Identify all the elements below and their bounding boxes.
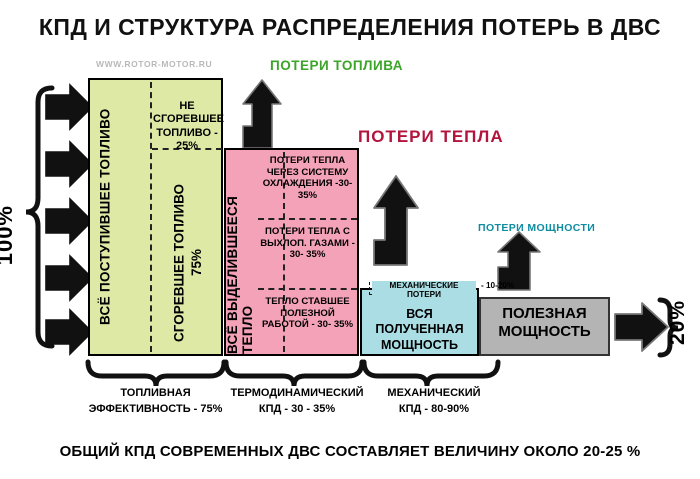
brace-caption-mechanical-line2: КПД - 80-90% bbox=[364, 402, 504, 418]
brace-caption-fuel-efficiency: ТОПЛИВНАЯ ЭФФЕКТИВНОСТЬ - 75% bbox=[78, 386, 233, 418]
total-power-label: ВСЯ ПОЛУЧЕННАЯ МОЩНОСТЬ bbox=[362, 307, 477, 353]
brace-caption-mechanical-line1: МЕХАНИЧЕСКИЙ bbox=[364, 386, 504, 402]
mechanical-losses-label: МЕХАНИЧЕСКИЕ ПОТЕРИ bbox=[372, 281, 476, 299]
useful-power-label: ПОЛЕЗНАЯ МОЩНОСТЬ bbox=[481, 305, 608, 342]
fuel-bar-vertical-divider bbox=[150, 82, 152, 352]
output-percent-label: 20% bbox=[666, 300, 700, 345]
bottom-brace-icon bbox=[88, 362, 498, 386]
heat-segment-divider-1 bbox=[258, 218, 357, 220]
footer-summary: ОБЩИЙ КПД СОВРЕМЕННЫХ ДВС СОСТАВЛЯЕТ ВЕЛ… bbox=[0, 443, 700, 460]
fuel-loss-arrow-icon bbox=[243, 80, 281, 148]
brace-caption-fuel-efficiency-line2: ЭФФЕКТИВНОСТЬ - 75% bbox=[78, 402, 233, 418]
input-percent-text: 100% bbox=[0, 205, 17, 265]
heat-segment-divider-2 bbox=[258, 288, 357, 290]
input-percent-label: 100% bbox=[0, 205, 52, 265]
output-percent-text: 20% bbox=[666, 300, 689, 345]
mechanical-losses-value: - 10-20% bbox=[481, 281, 514, 290]
heat-loss-arrow-icon bbox=[374, 176, 418, 265]
heat-bar-side-label: ВСЁ ВЫДЕЛИВШЕЕСЯ ТЕПЛО bbox=[226, 150, 254, 354]
brace-caption-thermodynamic-line1: ТЕРМОДИНАМИЧЕСКИЙ bbox=[222, 386, 372, 402]
watermark: WWW.ROTOR-MOTOR.RU bbox=[96, 59, 212, 69]
fuel-segment-unburnt-label: НЕ СГОРЕВШЕЕ ТОПЛИВО - 25% bbox=[153, 100, 221, 154]
heat-segment-useful-work-label: ТЕПЛО СТАВШЕЕ ПОЛЕЗНОЙ РАБОТОЙ - 30- 35% bbox=[258, 296, 357, 331]
fuel-bar-side-label: ВСЁ ПОСТУПИВШЕЕ ТОПЛИВО bbox=[90, 80, 120, 354]
brace-caption-thermodynamic-line2: КПД - 30 - 35% bbox=[222, 402, 372, 418]
brace-caption-thermodynamic: ТЕРМОДИНАМИЧЕСКИЙ КПД - 30 - 35% bbox=[222, 386, 372, 418]
page-title: КПД И СТРУКТУРА РАСПРЕДЕЛЕНИЯ ПОТЕРЬ В Д… bbox=[0, 14, 700, 41]
heat-segment-exhaust-label: ПОТЕРИ ТЕПЛА С ВЫХЛОП. ГАЗАМИ - 30- 35% bbox=[258, 226, 357, 261]
fuel-loss-callout-label: ПОТЕРИ ТОПЛИВА bbox=[270, 58, 403, 73]
input-arrow-icon bbox=[46, 85, 92, 354]
brace-caption-fuel-efficiency-line1: ТОПЛИВНАЯ bbox=[78, 386, 233, 402]
heat-segment-cooling-label: ПОТЕРИ ТЕПЛА ЧЕРЕЗ СИСТЕМУ ОХЛАЖДЕНИЯ -3… bbox=[258, 155, 357, 202]
brace-caption-mechanical: МЕХАНИЧЕСКИЙ КПД - 80-90% bbox=[364, 386, 504, 418]
heat-loss-callout-label: ПОТЕРИ ТЕПЛА bbox=[358, 127, 504, 147]
output-arrow-icon bbox=[615, 303, 668, 351]
power-loss-callout-label: ПОТЕРИ МОЩНОСТИ bbox=[478, 222, 595, 234]
fuel-segment-burnt-label: СГОРЕВШЕЕ ТОПЛИВО 75% bbox=[155, 175, 221, 350]
